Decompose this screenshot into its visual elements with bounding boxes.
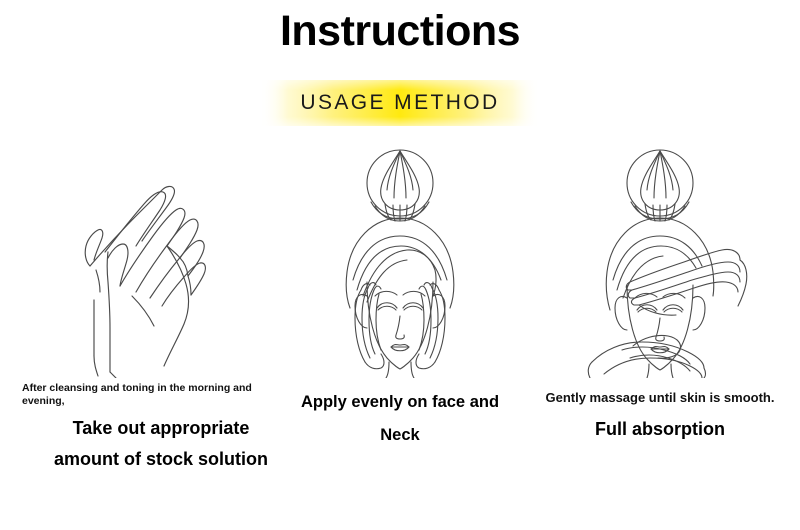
usage-method-badge-wrap: USAGE METHOD	[0, 80, 800, 126]
instructions-page: Instructions	[0, 0, 800, 530]
steps-row: After cleansing and toning in the mornin…	[0, 140, 800, 480]
step-3: Gently massage until skin is smooth. Ful…	[520, 140, 800, 480]
face-massage-icon	[570, 140, 750, 378]
header: Instructions	[0, 0, 800, 54]
face-apply-icon	[315, 140, 485, 378]
step-1-caption-main-line2: amount of stock solution	[22, 448, 292, 471]
usage-method-badge: USAGE METHOD	[260, 80, 540, 126]
step-2-caption-main-line1: Apply evenly on face and	[282, 392, 518, 413]
step-2-captions: Apply evenly on face and Neck	[282, 392, 518, 447]
step-3-captions: Gently massage until skin is smooth. Ful…	[520, 390, 800, 441]
step-1-caption-sub: After cleansing and toning in the mornin…	[22, 382, 292, 409]
step-3-caption-sub: Gently massage until skin is smooth.	[520, 390, 800, 407]
step-1-caption-main-line1: Take out appropriate	[22, 417, 292, 440]
usage-method-label: USAGE METHOD	[300, 91, 499, 115]
step-2: Apply evenly on face and Neck	[282, 140, 518, 480]
praying-hands-icon	[50, 140, 240, 378]
step-1: After cleansing and toning in the mornin…	[10, 140, 280, 480]
step-3-illustration	[520, 140, 800, 378]
step-1-illustration	[10, 140, 280, 378]
page-title: Instructions	[0, 0, 800, 54]
step-2-caption-main-line2: Neck	[282, 425, 518, 446]
step-3-caption-main-line1: Full absorption	[520, 418, 800, 441]
step-2-illustration	[282, 140, 518, 378]
step-1-captions: After cleansing and toning in the mornin…	[10, 382, 304, 472]
